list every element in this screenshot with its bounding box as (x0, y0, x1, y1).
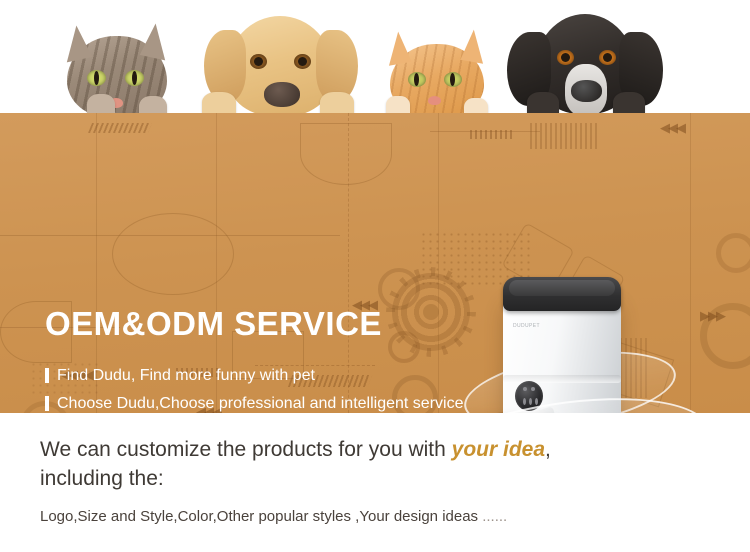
gear-icon-small-2 (388, 331, 420, 363)
barcode-pattern-3 (530, 123, 598, 149)
orange-cat-eye-right (444, 72, 462, 87)
feeder-lid-top (509, 280, 615, 296)
bullet-marker-icon (45, 396, 49, 411)
oem-odm-service-banner-page: ◀◀◀ ◀◀◀ ▶▶▶ ◀◀◀ ◀◀◀◀ OEM&ODM SERVICE Fin… (0, 0, 750, 552)
pet-golden-retriever (198, 10, 363, 118)
gear-icon-small-8 (716, 233, 750, 273)
customization-copy-section: We can customize the products for you wi… (0, 413, 750, 552)
oem-odm-banner: ◀◀◀ ◀◀◀ ▶▶▶ ◀◀◀ ◀◀◀◀ OEM&ODM SERVICE Fin… (0, 113, 750, 413)
golden-retriever-eye-left (250, 54, 267, 69)
black-white-dog-eye-right (599, 50, 616, 65)
wireframe-block-8 (300, 123, 392, 185)
pet-black-white-dog (505, 6, 665, 118)
bullet-label: Choose Dudu,Choose professional and inte… (57, 395, 463, 413)
bullet-marker-icon (45, 368, 49, 383)
orange-cat-ear-left (383, 30, 411, 66)
orange-cat-nose (428, 96, 441, 105)
headline-line-two: including the: (40, 467, 164, 490)
customization-options-ellipsis: ...... (482, 508, 507, 525)
feeder-brand-label: DUDUPET (513, 323, 540, 329)
bullet-label: Find Dudu, Find more funny with pet (57, 367, 315, 385)
feeder-seam (503, 375, 621, 383)
black-white-dog-eye-left (557, 50, 574, 65)
customization-headline: We can customize the products for you wi… (40, 435, 700, 493)
wireframe-block-5 (112, 213, 234, 295)
gear-icon-small-1 (378, 268, 420, 310)
orange-cat-ear-right (460, 28, 488, 64)
tabby-cat-eye-right (125, 70, 144, 86)
page-title: OEM&ODM SERVICE (45, 305, 382, 343)
feeder-lid (503, 277, 621, 311)
tabby-cat-eye-left (87, 70, 106, 86)
customization-options-text: Logo,Size and Style,Color,Other popular … (40, 508, 482, 525)
headline-text-before: We can customize the products for you wi… (40, 438, 452, 461)
headline-text-after: , (545, 438, 551, 461)
pet-tabby-cat (55, 18, 180, 118)
barcode-pattern-1 (88, 123, 152, 133)
feature-bullet-list: Find Dudu, Find more funny with pet Choo… (45, 363, 463, 413)
list-item: Find Dudu, Find more funny with pet (45, 363, 463, 388)
orange-cat-eye-left (408, 72, 426, 87)
product-image-pet-feeder: DUDUPET (455, 263, 715, 413)
arrow-cluster-banner-right: ◀◀◀ (660, 121, 684, 134)
pet-photo-strip (0, 0, 750, 118)
golden-retriever-ear-left (204, 30, 246, 102)
list-item: Choose Dudu,Choose professional and inte… (45, 391, 463, 413)
pet-orange-cat (378, 22, 496, 118)
tabby-cat-ear-right (140, 22, 173, 61)
customization-options-line: Logo,Size and Style,Color,Other popular … (40, 508, 507, 525)
tabby-cat-ear-left (60, 24, 93, 63)
golden-retriever-nose (264, 82, 300, 107)
black-white-dog-nose (571, 80, 602, 102)
golden-retriever-eye-right (294, 54, 311, 69)
headline-accent-your-idea: your idea (452, 438, 545, 461)
divider-line-2 (430, 131, 540, 132)
